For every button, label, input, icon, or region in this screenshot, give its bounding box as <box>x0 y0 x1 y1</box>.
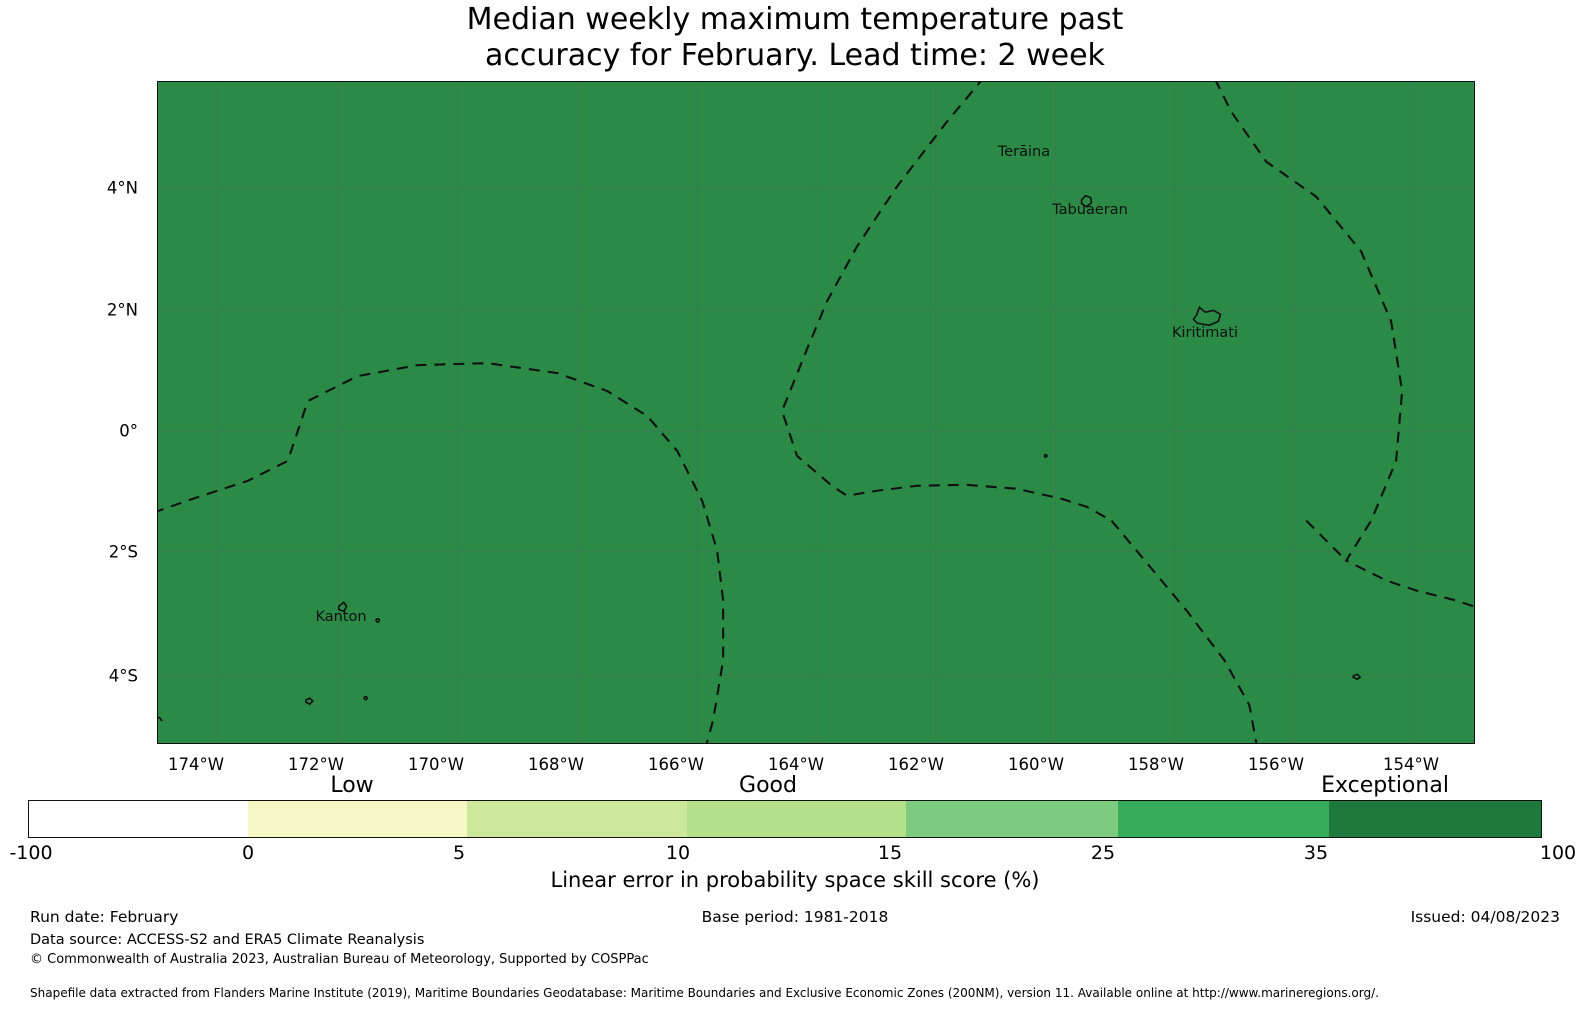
colorbar-segment-4 <box>906 801 1118 837</box>
colorbar-segment-1 <box>248 801 467 837</box>
x-tick-label-2: 170°W <box>408 755 464 774</box>
colorbar-tick-label-2: 5 <box>453 842 465 864</box>
y-tick-label-0: 4°N <box>48 179 138 198</box>
colorbar-segment-0 <box>29 801 248 837</box>
colorbar-axis-title: Linear error in probability space skill … <box>0 868 1590 892</box>
y-tick-label-3: 2°S <box>48 543 138 562</box>
footer-base-period: Base period: 1981-2018 <box>0 908 1590 926</box>
x-tick-label-6: 162°W <box>888 755 944 774</box>
page-title: Median weekly maximum temperature past a… <box>0 0 1590 74</box>
colorbar-tick-label-6: 35 <box>1304 842 1328 864</box>
colorbar-tick-label-7: 100 <box>1540 842 1576 864</box>
colorbar-tick-label-4: 15 <box>878 842 902 864</box>
gridlines-vertical <box>219 82 1413 743</box>
colorbar-tick-label-5: 25 <box>1091 842 1115 864</box>
y-tick-label-1: 2°N <box>48 301 138 320</box>
x-tick-label-8: 158°W <box>1128 755 1184 774</box>
footer-data-source: Data source: ACCESS-S2 and ERA5 Climate … <box>30 932 424 948</box>
y-tick-label-4: 4°S <box>48 667 138 686</box>
colorbar-tick-label-1: 0 <box>242 842 254 864</box>
island-label-teraina: Terāina <box>998 144 1050 160</box>
colorbar-segment-3 <box>687 801 906 837</box>
x-tick-label-7: 160°W <box>1008 755 1064 774</box>
y-tick-label-2: 0° <box>48 422 138 441</box>
colorbar[interactable] <box>28 800 1542 838</box>
colorbar-qual-label-exceptional: Exceptional <box>1321 773 1449 798</box>
x-tick-label-9: 156°W <box>1248 755 1304 774</box>
island-outlines <box>158 196 1360 721</box>
colorbar-qual-label-good: Good <box>739 773 797 798</box>
colorbar-tick-label-3: 10 <box>666 842 690 864</box>
colorbar-segment-5 <box>1118 801 1330 837</box>
footer-copyright: © Commonwealth of Australia 2023, Austra… <box>30 952 649 967</box>
footer-issued-date: Issued: 04/08/2023 <box>1411 908 1560 926</box>
footer-shapefile-attribution: Shapefile data extracted from Flanders M… <box>30 986 1379 1000</box>
x-tick-label-5: 164°W <box>768 755 824 774</box>
x-tick-label-3: 168°W <box>528 755 584 774</box>
map-vector-layer <box>158 82 1474 743</box>
colorbar-tick-label-0: -100 <box>9 842 52 864</box>
island-label-kiritimati: Kiritimati <box>1172 325 1238 341</box>
x-tick-label-1: 172°W <box>288 755 344 774</box>
colorbar-segment-6 <box>1329 801 1541 837</box>
x-tick-label-4: 166°W <box>648 755 704 774</box>
x-tick-label-0: 174°W <box>168 755 224 774</box>
colorbar-segment-2 <box>467 801 686 837</box>
map-plot-area[interactable]: Terāina Tabuaeran Kiritimati Kanton <box>157 81 1475 744</box>
island-label-tabuaeran: Tabuaeran <box>1052 202 1128 218</box>
colorbar-qual-label-low: Low <box>330 773 373 798</box>
x-tick-label-10: 154°W <box>1383 755 1439 774</box>
island-label-kanton: Kanton <box>315 609 366 625</box>
